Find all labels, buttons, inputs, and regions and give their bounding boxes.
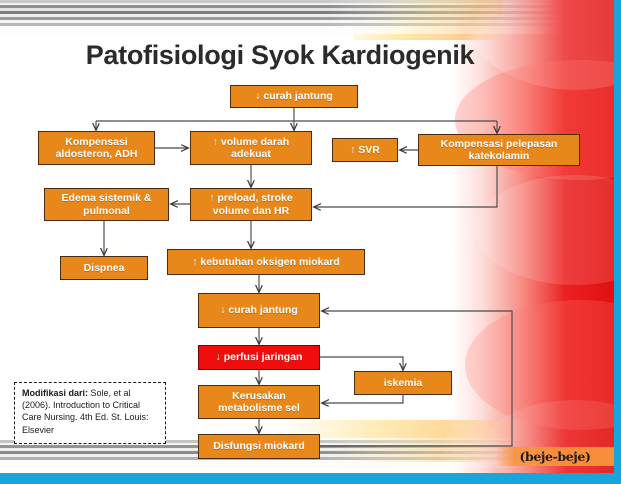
node-dyspnea[interactable]: Dispnea	[60, 256, 148, 280]
node-blood-volume[interactable]: ↑ volume darah adekuat	[190, 131, 312, 165]
watermark-badge: (beje-beje)	[496, 447, 614, 466]
node-myocardial-dysfunction[interactable]: Disfungsi miokard	[198, 434, 320, 459]
slide-canvas: Patofisiologi Syok Kardiogenik	[0, 0, 621, 484]
citation-box: Modifikasi dari: Sole, et al (2006). Int…	[14, 382, 166, 444]
node-cardiac-output-top[interactable]: ↓ curah jantung	[230, 85, 358, 108]
node-edema[interactable]: Edema sistemik & pulmonal	[44, 188, 169, 221]
node-preload[interactable]: ↑ preload, stroke volume dan HR	[190, 188, 312, 221]
node-myocardial-oxygen-demand[interactable]: ↑ kebutuhan oksigen miokard	[167, 249, 365, 275]
node-compensation-catecholamine[interactable]: Kompensasi pelepasan katekolamin	[418, 134, 580, 166]
node-ischemia[interactable]: iskemia	[354, 371, 452, 395]
node-cell-metabolism-damage[interactable]: Kerusakan metabolisme sel	[198, 385, 320, 419]
node-cardiac-output-second[interactable]: ↓ curah jantung	[198, 293, 320, 328]
node-tissue-perfusion[interactable]: ↓ perfusi jaringan	[198, 345, 320, 370]
node-compensation-aldosterone[interactable]: Kompensasi aldosteron, ADH	[38, 131, 155, 165]
watermark-label: (beje-beje)	[520, 449, 591, 464]
citation-label: Modifikasi dari:	[22, 388, 88, 398]
node-svr[interactable]: ↑ SVR	[332, 138, 398, 162]
